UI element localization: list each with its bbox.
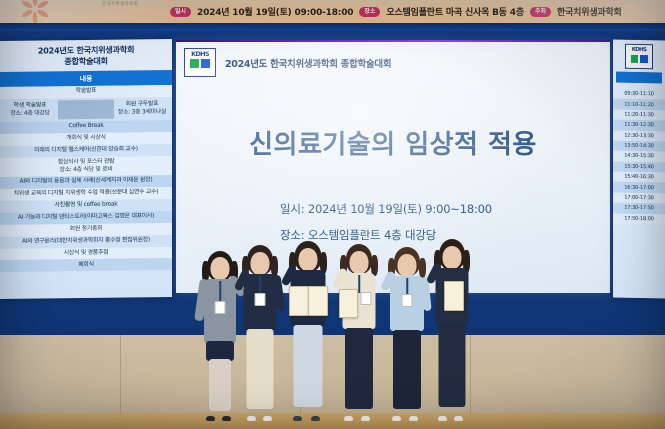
- slide-header: KDHS 2024년도 한국치위생과학회 종합학술대회: [184, 48, 391, 77]
- program-row-divider: [58, 100, 114, 120]
- logo-square-green: [190, 59, 199, 68]
- program-board-right: KDHS 09:30-11:10 11:10-11:20 11:20-11:30…: [613, 40, 665, 299]
- kdhs-logo-squares-right: [631, 55, 648, 63]
- person-3: [282, 241, 334, 421]
- program-row: 점심식사 및 포스터 관람 장소: 4층 식당 및 로비: [0, 156, 172, 177]
- conference-photo: 한국치위생과학회 일시 2024년 10월 19일(토) 09:00-18:00…: [0, 0, 665, 429]
- program-board-left: 2024년도 한국치위생과학회 종합학술대회 내용 학술발표 학생 학술발표 장…: [0, 39, 172, 299]
- program-row: 폐회식: [0, 258, 172, 272]
- program-row-split: 학생 학술발표 장소: 4층 대강당 회원 구두발표 장소: 3층 3세미나실: [0, 97, 172, 122]
- stage-wall-top-strip: [0, 23, 665, 31]
- program-board-title: 2024년도 한국치위생과학회 종합학술대회: [0, 39, 172, 72]
- person-5: [382, 245, 432, 421]
- kdhs-logo-icon: KDHS: [184, 48, 216, 77]
- slide-header-text: 2024년도 한국치위생과학회 종합학술대회: [225, 56, 391, 70]
- slide-main-title: 신의료기술의 임상적 적용: [176, 124, 610, 161]
- banner-glare: [0, 0, 665, 23]
- logo-square-green-right: [631, 55, 639, 63]
- person-4: [334, 243, 384, 421]
- kdhs-logo-squares: [190, 59, 210, 68]
- person-2: [236, 245, 284, 421]
- program-row-left: 학생 학술발표 장소: 4층 대강당: [2, 100, 58, 120]
- program-title-line2: 종합학술대회: [4, 55, 168, 68]
- top-banner: 한국치위생과학회 일시 2024년 10월 19일(토) 09:00-18:00…: [0, 0, 665, 23]
- program-row-right: 회원 구두발표 장소: 3층 3세미나실: [114, 99, 170, 119]
- time-column-header: [616, 72, 662, 84]
- kdhs-logo-text-right: KDHS: [632, 46, 647, 54]
- kdhs-logo-text: KDHS: [191, 50, 209, 58]
- slide-date-line: 일시: 2024년 10월 19일(토) 9:00~18:00: [280, 201, 492, 217]
- time-slot: 17:50-18:00: [613, 213, 665, 224]
- logo-square-blue-right: [640, 55, 648, 63]
- kdhs-logo-icon-right: KDHS: [625, 44, 653, 70]
- person-6: [428, 239, 476, 421]
- logo-square-blue: [201, 59, 210, 68]
